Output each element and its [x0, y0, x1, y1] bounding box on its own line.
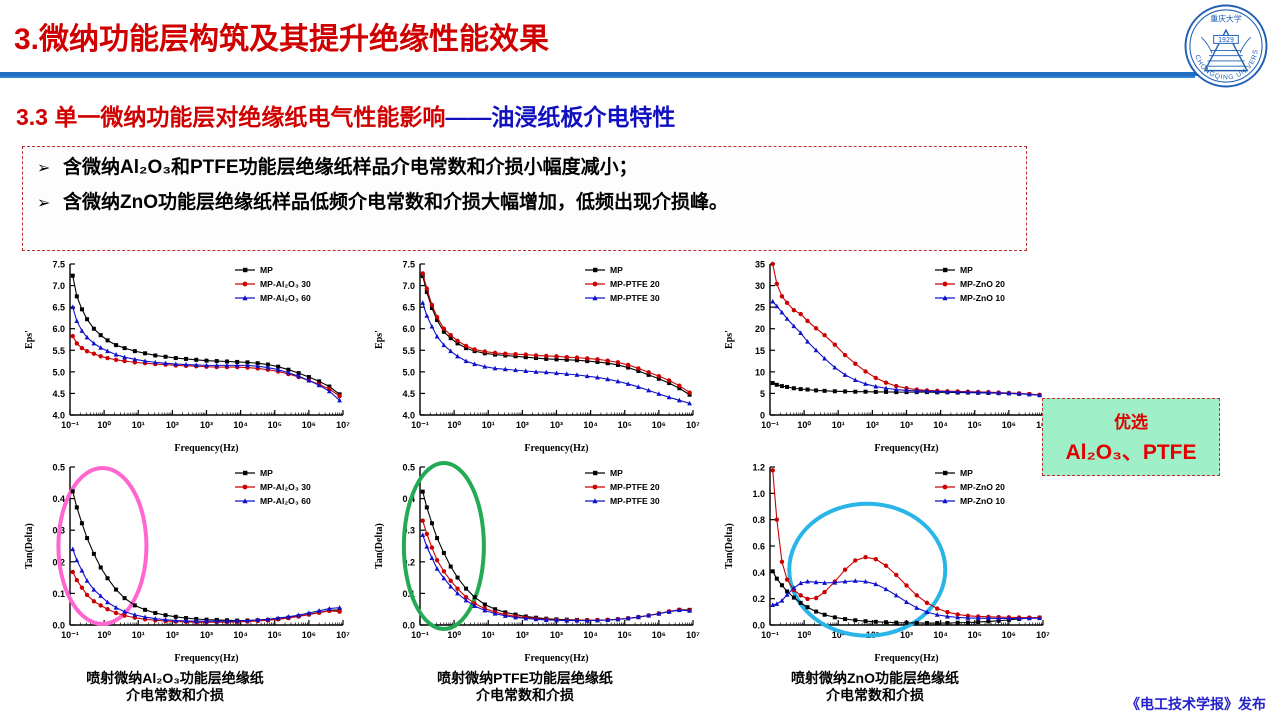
x-tick-label: 10² [866, 420, 879, 430]
x-tick-label: 10⁻¹ [761, 420, 779, 430]
caption-line: 喷射微纳ZnO功能层绝缘纸 [730, 670, 1020, 687]
chart-tand-ptfe: 0.00.10.20.30.40.510⁻¹10⁰10¹10²10³10⁴10⁵… [368, 455, 703, 667]
x-tick-label: 10⁵ [618, 630, 632, 640]
x-tick-label: 10³ [900, 630, 913, 640]
legend-label: MP [960, 468, 973, 478]
x-tick-label: 10⁵ [268, 420, 282, 430]
y-tick-label: 6.5 [402, 303, 415, 313]
x-tick-label: 10⁵ [968, 630, 982, 640]
x-tick-label: 10⁴ [933, 420, 947, 430]
legend-label: MP-ZnO 20 [960, 482, 1005, 492]
y-tick-label: 1.2 [752, 463, 765, 473]
y-tick-label: 4.0 [402, 411, 415, 421]
legend-entry: MP-ZnO 20 [935, 482, 1005, 492]
bullet-arrow-icon: ➢ [37, 157, 63, 179]
x-tick-label: 10⁻¹ [61, 630, 79, 640]
y-tick-label: 6.0 [402, 324, 415, 334]
y-tick-label: 6.5 [52, 303, 65, 313]
x-tick-label: 10¹ [132, 420, 145, 430]
legend-entry: MP [585, 468, 623, 478]
series-mp-al-o--60 [70, 547, 342, 624]
legend-label: MP [960, 265, 973, 275]
legend-entry: MP-PTFE 20 [585, 279, 660, 289]
y-tick-label: 7.5 [52, 260, 65, 270]
x-tick-label: 10⁷ [686, 630, 700, 640]
x-tick-label: 10³ [900, 420, 913, 430]
y-tick-label: 25 [755, 303, 765, 313]
highlight-ellipse [789, 504, 945, 636]
x-tick-label: 10⁵ [268, 630, 282, 640]
y-tick-label: 0.2 [752, 594, 765, 604]
x-tick-label: 10⁻¹ [411, 420, 429, 430]
x-tick-label: 10⁷ [1036, 630, 1050, 640]
x-axis-label: Frequency(Hz) [524, 653, 588, 664]
x-tick-label: 10⁰ [97, 420, 111, 430]
y-tick-label: 0.1 [52, 589, 65, 599]
y-tick-label: 0 [760, 411, 765, 421]
section-subtitle: 3.3 单一微纳功能层对绝缘纸电气性能影响——油浸纸板介电特性 [16, 98, 675, 132]
legend-label: MP-Al₂O₃ 30 [260, 482, 311, 492]
y-tick-label: 35 [755, 260, 765, 270]
x-axis-label: Frequency(Hz) [524, 443, 588, 454]
y-tick-label: 0.0 [752, 621, 765, 631]
legend-label: MP-ZnO 10 [960, 496, 1005, 506]
legend-entry: MP [235, 468, 273, 478]
caption-line: 喷射微纳Al₂O₃功能层绝缘纸 [30, 670, 320, 687]
series-mp-ptfe-20 [421, 519, 692, 623]
y-tick-label: 5.0 [52, 367, 65, 377]
legend-entry: MP-Al₂O₃ 30 [235, 279, 311, 289]
y-tick-label: 30 [755, 281, 765, 291]
legend-entry: MP [585, 265, 623, 275]
y-axis-label: Eps' [724, 330, 735, 349]
y-axis-label: Tan(Delta) [374, 523, 385, 569]
x-axis-label: Frequency(Hz) [174, 443, 238, 454]
x-tick-label: 10¹ [482, 630, 495, 640]
x-tick-label: 10² [166, 420, 179, 430]
legend-entry: MP-ZnO 10 [935, 496, 1005, 506]
x-tick-label: 10⁷ [336, 420, 350, 430]
legend-label: MP-Al₂O₃ 60 [260, 293, 311, 303]
title-divider [0, 72, 1214, 76]
svg-text:重庆大学: 重庆大学 [1210, 13, 1242, 23]
chongqing-university-logo: 重庆大学 1929 CHONGQING UNIVERSITY [1182, 2, 1270, 90]
legend-entry: MP-ZnO 10 [935, 293, 1005, 303]
x-tick-label: 10² [516, 420, 529, 430]
y-tick-label: 10 [755, 367, 765, 377]
y-tick-label: 0.4 [752, 568, 765, 578]
y-tick-label: 0.5 [402, 463, 415, 473]
x-tick-label: 10⁰ [97, 630, 111, 640]
y-tick-label: 4.5 [402, 389, 415, 399]
x-tick-label: 10⁻¹ [61, 420, 79, 430]
x-tick-label: 10⁵ [618, 420, 632, 430]
y-tick-label: 1.0 [752, 489, 765, 499]
legend-entry: MP-PTFE 30 [585, 496, 660, 506]
chart-caption-ptfe: 喷射微纳PTFE功能层绝缘纸介电常数和介损 [380, 670, 670, 704]
y-tick-label: 0.0 [52, 621, 65, 631]
x-tick-label: 10³ [550, 630, 563, 640]
subtitle-blue: ——油浸纸板介电特性 [445, 104, 675, 130]
y-tick-label: 0.5 [52, 463, 65, 473]
bullet-arrow-icon: ➢ [37, 192, 63, 214]
legend-entry: MP [935, 265, 973, 275]
y-tick-label: 6.0 [52, 324, 65, 334]
y-tick-label: 20 [755, 324, 765, 334]
caption-line: 介电常数和介损 [730, 687, 1020, 704]
y-tick-label: 0.0 [402, 621, 415, 631]
legend-label: MP-Al₂O₃ 60 [260, 496, 311, 506]
x-tick-label: 10⁴ [233, 630, 247, 640]
series-mp-al-o--60 [70, 305, 342, 403]
y-tick-label: 5.5 [52, 346, 65, 356]
legend-entry: MP-Al₂O₃ 60 [235, 293, 311, 303]
legend-label: MP-PTFE 20 [610, 279, 660, 289]
y-tick-label: 7.0 [402, 281, 415, 291]
x-tick-label: 10² [516, 630, 529, 640]
x-tick-label: 10¹ [132, 630, 145, 640]
callout-body: Al₂O₃、PTFE [1065, 436, 1196, 466]
x-tick-label: 10⁴ [583, 420, 597, 430]
x-tick-label: 10⁻¹ [411, 630, 429, 640]
legend-label: MP-PTFE 20 [610, 482, 660, 492]
x-tick-label: 10³ [200, 420, 213, 430]
bullet-item: ➢ 含微纳Al₂O₃和PTFE功能层绝缘纸样品介电常数和介损小幅度减小； [37, 157, 1018, 179]
bullet-text: 含微纳Al₂O₃和PTFE功能层绝缘纸样品介电常数和介损小幅度减小； [63, 157, 638, 179]
x-tick-label: 10⁵ [968, 420, 982, 430]
page-title: 3.微纳功能层构筑及其提升绝缘性能效果 [14, 14, 549, 58]
x-tick-label: 10⁴ [933, 630, 947, 640]
x-tick-label: 10⁶ [652, 420, 666, 430]
publisher-note: 《电工技术学报》发布 [1126, 694, 1266, 714]
chart-caption-al2o3: 喷射微纳Al₂O₃功能层绝缘纸介电常数和介损 [30, 670, 320, 704]
y-axis-label: Tan(Delta) [724, 523, 735, 569]
y-tick-label: 0.8 [752, 515, 765, 525]
chart-eps-al2o3: 4.04.55.05.56.06.57.07.510⁻¹10⁰10¹10²10³… [18, 252, 353, 457]
x-tick-label: 10⁰ [797, 630, 811, 640]
recommendation-callout: 优选 Al₂O₃、PTFE [1042, 398, 1220, 476]
legend-label: MP-PTFE 30 [610, 496, 660, 506]
x-tick-label: 10⁶ [652, 630, 666, 640]
x-tick-label: 10⁴ [583, 630, 597, 640]
y-tick-label: 4.5 [52, 389, 65, 399]
x-tick-label: 10⁰ [797, 420, 811, 430]
x-tick-label: 10⁴ [233, 420, 247, 430]
y-tick-label: 4.0 [52, 411, 65, 421]
legend-entry: MP-Al₂O₃ 30 [235, 482, 311, 492]
legend-entry: MP-Al₂O₃ 60 [235, 496, 311, 506]
series-mp [421, 490, 692, 623]
x-axis-label: Frequency(Hz) [874, 653, 938, 664]
chart-tand-al2o3: 0.00.10.20.30.40.510⁻¹10⁰10¹10²10³10⁴10⁵… [18, 455, 353, 667]
chart-tand-zno: 0.00.20.40.60.81.01.210⁻¹10⁰10¹10²10³10⁴… [718, 455, 1053, 667]
x-tick-label: 10⁰ [447, 420, 461, 430]
x-tick-label: 10⁻¹ [761, 630, 779, 640]
series-mp-ptfe-30 [420, 532, 692, 622]
chart-caption-zno: 喷射微纳ZnO功能层绝缘纸介电常数和介损 [730, 670, 1020, 704]
legend-entry: MP-ZnO 20 [935, 279, 1005, 289]
x-tick-label: 10¹ [482, 420, 495, 430]
chart-eps-zno: 0510152025303510⁻¹10⁰10¹10²10³10⁴10⁵10⁶1… [718, 252, 1053, 457]
bullet-item: ➢ 含微纳ZnO功能层绝缘纸样品低频介电常数和介损大幅增加，低频出现介损峰。 [37, 192, 1018, 214]
x-tick-label: 10¹ [832, 420, 845, 430]
x-tick-label: 10⁶ [302, 630, 316, 640]
x-tick-label: 10⁷ [686, 420, 700, 430]
y-axis-label: Tan(Delta) [24, 523, 35, 569]
legend-label: MP [610, 265, 623, 275]
y-axis-label: Eps' [24, 330, 35, 349]
x-axis-label: Frequency(Hz) [174, 653, 238, 664]
legend-label: MP [610, 468, 623, 478]
legend-label: MP-ZnO 20 [960, 279, 1005, 289]
legend-entry: MP-PTFE 20 [585, 482, 660, 492]
y-tick-label: 0.6 [752, 542, 765, 552]
x-tick-label: 10⁷ [336, 630, 350, 640]
series-mp [71, 489, 342, 622]
x-tick-label: 10³ [550, 420, 563, 430]
legend-label: MP-ZnO 10 [960, 293, 1005, 303]
bullet-text: 含微纳ZnO功能层绝缘纸样品低频介电常数和介损大幅增加，低频出现介损峰。 [63, 192, 728, 214]
chart-eps-ptfe: 4.04.55.05.56.06.57.07.510⁻¹10⁰10¹10²10³… [368, 252, 703, 457]
y-axis-label: Eps' [374, 330, 385, 349]
legend-entry: MP [235, 265, 273, 275]
key-findings-box: ➢ 含微纳Al₂O₃和PTFE功能层绝缘纸样品介电常数和介损小幅度减小； ➢ 含… [22, 146, 1027, 251]
series-mp-ptfe-30 [420, 300, 692, 405]
legend-label: MP-Al₂O₃ 30 [260, 279, 311, 289]
series-mp-al-o--30 [71, 570, 342, 625]
subtitle-red: 3.3 单一微纳功能层对绝缘纸电气性能影响 [16, 104, 445, 130]
y-tick-label: 5 [760, 389, 765, 399]
callout-title: 优选 [1114, 408, 1148, 433]
series-mp-zno-10 [770, 299, 1042, 397]
legend-label: MP [260, 468, 273, 478]
legend-entry: MP-PTFE 30 [585, 293, 660, 303]
y-tick-label: 0.4 [52, 494, 65, 504]
x-tick-label: 10⁶ [302, 420, 316, 430]
svg-text:1929: 1929 [1218, 36, 1234, 44]
legend-label: MP [260, 265, 273, 275]
y-tick-label: 5.0 [402, 367, 415, 377]
legend-label: MP-PTFE 30 [610, 293, 660, 303]
x-tick-label: 10³ [200, 630, 213, 640]
x-tick-label: 10⁰ [447, 630, 461, 640]
x-axis-label: Frequency(Hz) [874, 443, 938, 454]
y-tick-label: 7.0 [52, 281, 65, 291]
y-tick-label: 15 [755, 346, 765, 356]
x-tick-label: 10⁶ [1002, 420, 1016, 430]
caption-line: 喷射微纳PTFE功能层绝缘纸 [380, 670, 670, 687]
y-tick-label: 7.5 [402, 260, 415, 270]
y-tick-label: 5.5 [402, 346, 415, 356]
x-tick-label: 10² [166, 630, 179, 640]
legend-entry: MP [935, 468, 973, 478]
x-tick-label: 10⁶ [1002, 630, 1016, 640]
caption-line: 介电常数和介损 [380, 687, 670, 704]
caption-line: 介电常数和介损 [30, 687, 320, 704]
